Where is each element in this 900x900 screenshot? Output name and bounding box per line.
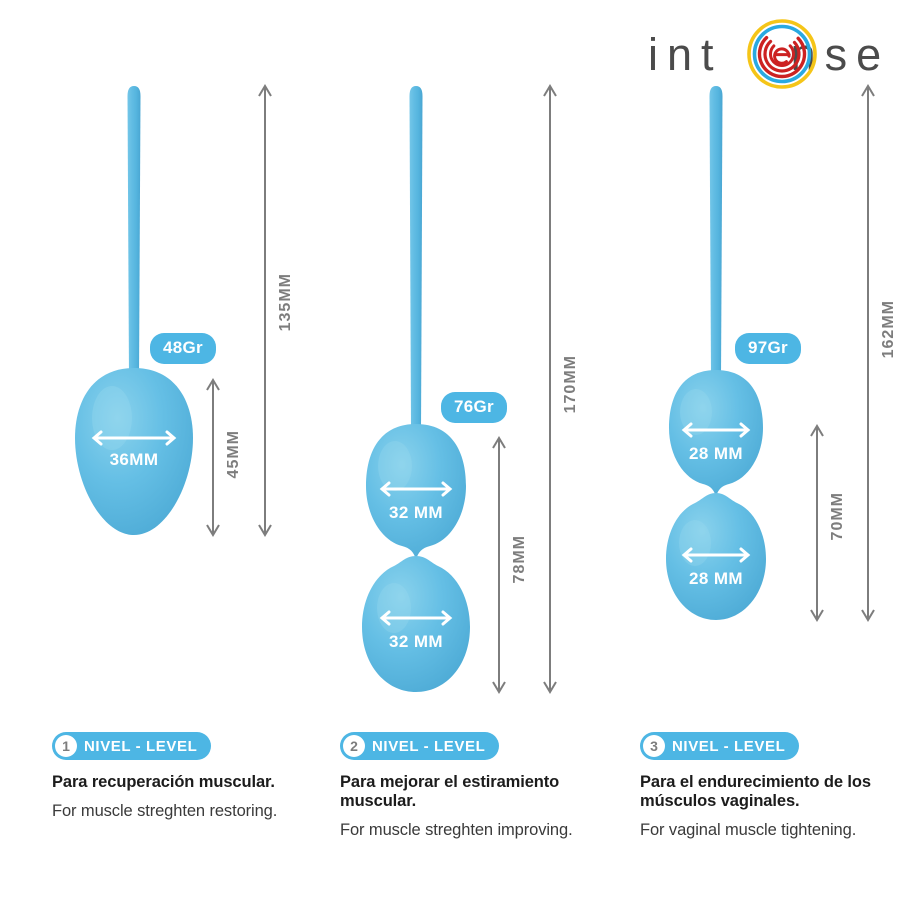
weight-badge-3: 97Gr <box>735 333 801 364</box>
level-number-2: 2 <box>343 735 365 757</box>
weight-badge-2: 76Gr <box>441 392 507 423</box>
product-column-2: 76Gr 32 MM 32 MM 78MM 170MM <box>300 0 600 720</box>
width-label-2-a: 32 MM <box>366 503 466 523</box>
product-illustration-level-1 <box>0 0 300 720</box>
level-badge-3: 3 NIVEL - LEVEL <box>640 732 799 760</box>
product-column-3: 97Gr 28 MM 28 MM 70MM 162MM <box>600 0 900 720</box>
level-badge-1: 1 NIVEL - LEVEL <box>52 732 211 760</box>
level-badge-label-3: NIVEL - LEVEL <box>672 738 785 755</box>
level-number-1: 1 <box>55 735 77 757</box>
width-label-2-b: 32 MM <box>366 632 466 652</box>
level-text-en-2: For muscle streghten improving. <box>340 820 625 840</box>
weight-badge-1: 48Gr <box>150 333 216 364</box>
product-illustration-level-2 <box>300 0 600 720</box>
total-length-label-1: 135MM <box>277 273 295 331</box>
body-length-label-2: 78MM <box>511 535 529 583</box>
level-block-3: 3 NIVEL - LEVEL Para el endurecimiento d… <box>640 732 900 840</box>
body-length-label-3: 70MM <box>829 492 847 540</box>
level-badge-2: 2 NIVEL - LEVEL <box>340 732 499 760</box>
infographic-canvas: intoonse <box>0 0 900 900</box>
total-length-label-2: 170MM <box>562 355 580 413</box>
level-badge-label-2: NIVEL - LEVEL <box>372 738 485 755</box>
body-length-label-1: 45MM <box>225 430 243 478</box>
level-title-es-3: Para el endurecimiento de los músculos v… <box>640 773 900 811</box>
width-label-1-a: 36MM <box>84 450 184 470</box>
product-column-1: 48Gr 36MM 45MM 135MM <box>0 0 300 720</box>
level-number-3: 3 <box>643 735 665 757</box>
level-title-es-1: Para recuperación muscular. <box>52 773 337 792</box>
level-title-es-2: Para mejorar el estiramiento muscular. <box>340 773 625 811</box>
level-block-2: 2 NIVEL - LEVEL Para mejorar el estirami… <box>340 732 625 840</box>
level-text-en-3: For vaginal muscle tightening. <box>640 820 900 840</box>
level-text-en-1: For muscle streghten restoring. <box>52 801 337 821</box>
total-length-label-3: 162MM <box>880 300 898 358</box>
width-label-3-a: 28 MM <box>666 444 766 464</box>
level-badge-label-1: NIVEL - LEVEL <box>84 738 197 755</box>
level-block-1: 1 NIVEL - LEVEL Para recuperación muscul… <box>52 732 337 821</box>
width-label-3-b: 28 MM <box>666 569 766 589</box>
